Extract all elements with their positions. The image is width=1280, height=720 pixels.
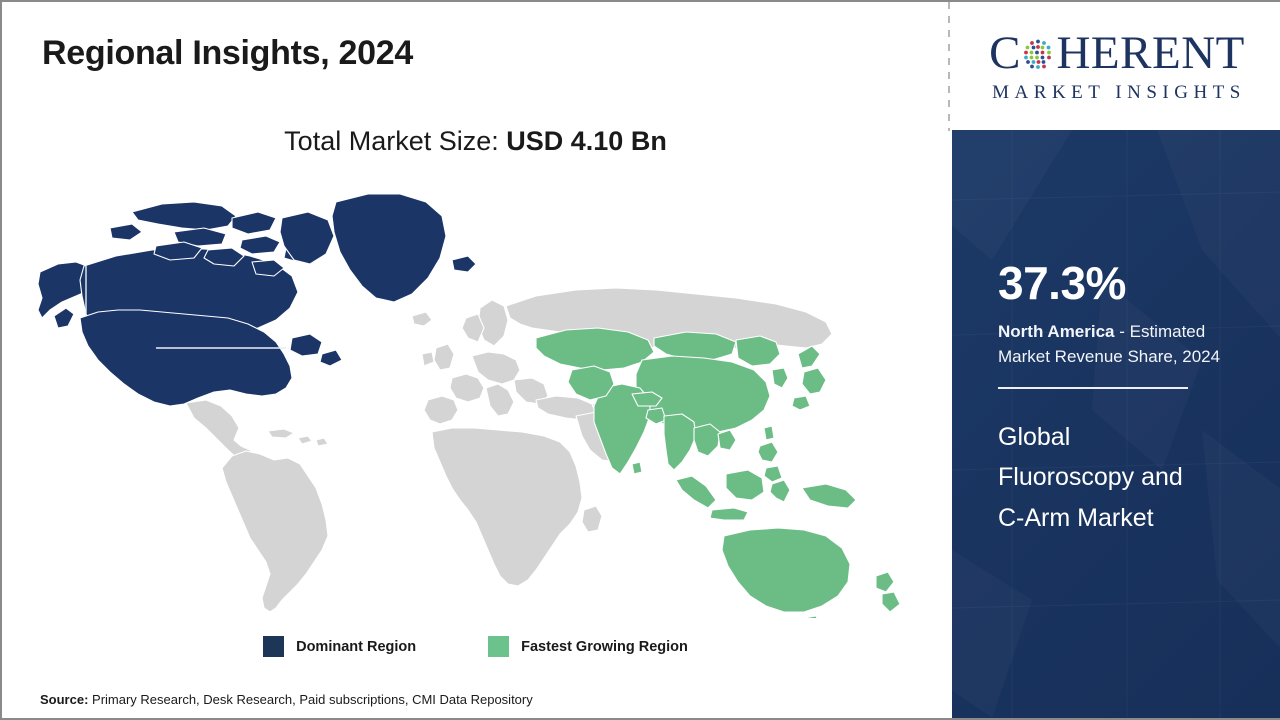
map-legend: Dominant Region Fastest Growing Region (2, 636, 949, 657)
legend-item-dominant: Dominant Region (263, 636, 416, 657)
regional-stat-panel: 37.3% North America - Estimated Market R… (952, 130, 1280, 718)
stat-description: North America - Estimated Market Revenue… (998, 320, 1260, 369)
logo-wordmark: C (989, 29, 1245, 79)
legend-label-fastest-growing: Fastest Growing Region (521, 639, 688, 655)
source-label: Source: (40, 692, 88, 707)
legend-label-dominant: Dominant Region (296, 639, 416, 655)
brand-logo: C (952, 2, 1280, 130)
map-region-north-america (38, 194, 476, 406)
logo-word-rest: HERENT (1056, 30, 1244, 77)
legend-swatch-fastest-growing (488, 636, 509, 657)
logo-subtitle: MARKET INSIGHTS (988, 82, 1246, 104)
source-text: Primary Research, Desk Research, Paid su… (92, 692, 533, 707)
total-market-size: Total Market Size: USD 4.10 Bn (2, 126, 949, 157)
source-note: Source: Primary Research, Desk Research,… (40, 692, 533, 707)
market-size-label: Total Market Size: (284, 126, 499, 156)
world-map (36, 188, 916, 618)
infographic-page: Regional Insights, 2024 Total Market Siz… (0, 0, 1280, 720)
stat-content: 37.3% North America - Estimated Market R… (998, 130, 1248, 538)
left-content-panel: Regional Insights, 2024 Total Market Siz… (2, 2, 949, 718)
globe-dots-icon (1021, 37, 1055, 71)
legend-item-fastest-growing: Fastest Growing Region (488, 636, 688, 657)
market-name: Global Fluoroscopy and C-Arm Market (998, 417, 1213, 539)
vertical-dashed-divider (948, 2, 950, 131)
stat-percent-value: 37.3% (998, 260, 1248, 306)
stat-divider-rule (998, 387, 1188, 389)
stat-region-name: North America (998, 322, 1115, 341)
market-size-value: USD 4.10 Bn (506, 126, 667, 156)
logo-letter-c: C (989, 30, 1021, 77)
legend-swatch-dominant (263, 636, 284, 657)
map-region-asia-pacific (536, 328, 900, 618)
page-title: Regional Insights, 2024 (42, 34, 413, 73)
